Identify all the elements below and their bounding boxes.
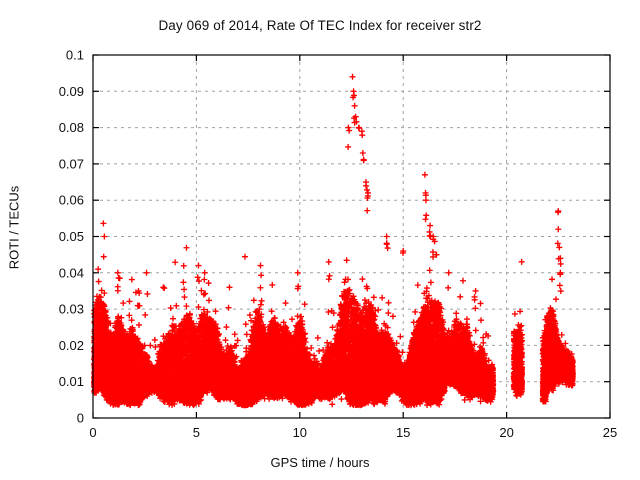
svg-text:0: 0 [77, 411, 84, 426]
chart-container: Day 069 of 2014, Rate Of TEC Index for r… [0, 0, 640, 480]
svg-text:0.08: 0.08 [59, 120, 84, 135]
svg-text:25: 25 [603, 425, 617, 440]
svg-text:0.04: 0.04 [59, 265, 84, 280]
svg-text:10: 10 [293, 425, 307, 440]
svg-text:0.1: 0.1 [66, 48, 84, 63]
scatter-plot-canvas: 00.010.020.030.040.050.060.070.080.090.1… [0, 0, 640, 480]
svg-text:0: 0 [89, 425, 96, 440]
svg-text:15: 15 [396, 425, 410, 440]
svg-text:0.06: 0.06 [59, 193, 84, 208]
svg-text:0.09: 0.09 [59, 84, 84, 99]
svg-text:0.01: 0.01 [59, 374, 84, 389]
svg-text:0.03: 0.03 [59, 302, 84, 317]
svg-text:5: 5 [193, 425, 200, 440]
svg-text:0.02: 0.02 [59, 338, 84, 353]
svg-text:0.07: 0.07 [59, 156, 84, 171]
svg-text:20: 20 [499, 425, 513, 440]
svg-text:0.05: 0.05 [59, 229, 84, 244]
data-points [91, 74, 576, 408]
